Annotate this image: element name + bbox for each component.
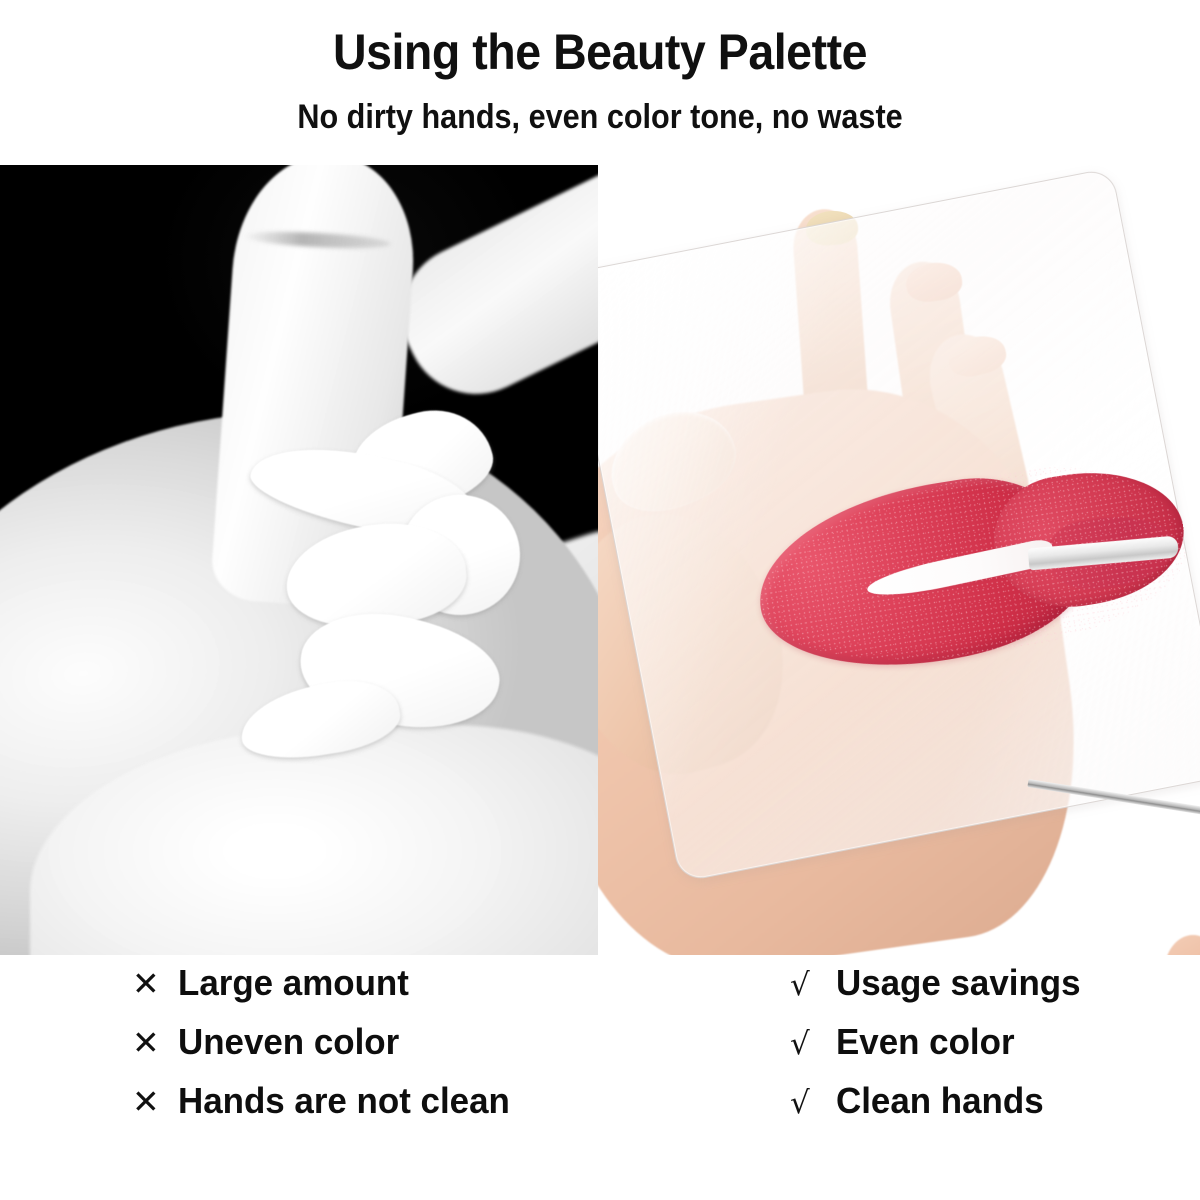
infographic-page: Using the Beauty Palette No dirty hands,… xyxy=(0,0,1200,1200)
header: Using the Beauty Palette No dirty hands,… xyxy=(0,0,1200,160)
list-item: ✕ Uneven color xyxy=(132,1021,652,1080)
photo-panels xyxy=(0,165,1200,955)
list-item-label: Large amount xyxy=(178,962,409,1004)
cross-icon: ✕ xyxy=(132,1082,178,1121)
photo-panel-beauty-palette xyxy=(598,165,1200,955)
list-item-label: Usage savings xyxy=(836,962,1081,1004)
page-subtitle: No dirty hands, even color tone, no wast… xyxy=(60,96,1140,138)
finger-at-edge xyxy=(1164,935,1200,955)
list-item: ✕ Large amount xyxy=(132,962,652,1021)
cross-icon: ✕ xyxy=(132,964,178,1003)
list-item: √ Clean hands xyxy=(790,1080,1200,1139)
check-icon: √ xyxy=(790,1026,836,1062)
positive-list: √ Usage savings √ Even color √ Clean han… xyxy=(790,962,1200,1139)
list-item-label: Hands are not clean xyxy=(178,1080,510,1122)
list-item-label: Even color xyxy=(836,1021,1015,1063)
list-item: √ Even color xyxy=(790,1021,1200,1080)
list-item-label: Uneven color xyxy=(178,1021,399,1063)
comparison-lists: ✕ Large amount ✕ Uneven color ✕ Hands ar… xyxy=(0,962,1200,1200)
list-item-label: Clean hands xyxy=(836,1080,1044,1122)
cross-icon: ✕ xyxy=(132,1023,178,1062)
list-item: √ Usage savings xyxy=(790,962,1200,1021)
photo-panel-dirty-hand xyxy=(0,165,598,955)
negative-list: ✕ Large amount ✕ Uneven color ✕ Hands ar… xyxy=(132,962,652,1139)
page-title: Using the Beauty Palette xyxy=(42,22,1158,82)
list-item: ✕ Hands are not clean xyxy=(132,1080,652,1139)
check-icon: √ xyxy=(790,967,836,1003)
check-icon: √ xyxy=(790,1085,836,1121)
